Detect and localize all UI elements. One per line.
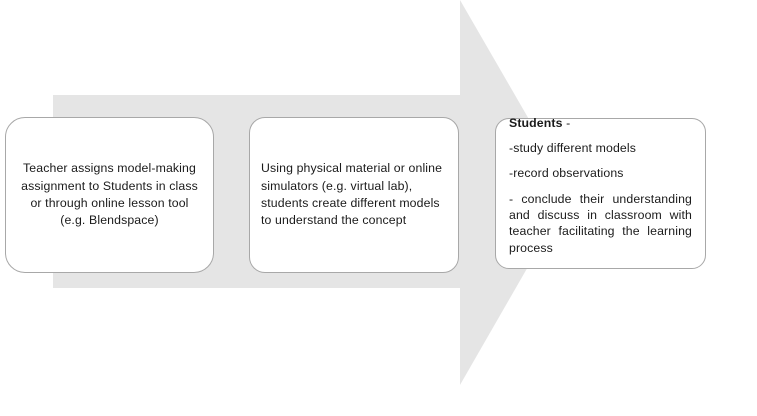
process-step-3-heading-suffix: - (563, 116, 571, 130)
process-step-box-1[interactable]: Teacher assigns model-making assignment … (5, 117, 214, 273)
process-step-2-line-3: students create different models (261, 195, 447, 212)
process-step-3-bullet-1: -study different models (509, 140, 692, 156)
diagram-canvas: Teacher assigns model-making assignment … (0, 0, 757, 416)
process-step-3-text: Students - -study different models -reco… (509, 115, 692, 273)
process-step-3-bullet-2: -record observations (509, 165, 692, 181)
process-step-1-line-1: Teacher assigns model-making (15, 160, 204, 177)
process-step-2-line-1: Using physical material or online (261, 160, 447, 177)
process-step-box-3[interactable]: Students - -study different models -reco… (495, 118, 706, 269)
process-step-2-line-4: to understand the concept (261, 212, 447, 229)
process-step-1-text: Teacher assigns model-making assignment … (15, 160, 204, 230)
process-step-3-heading-label: Students (509, 116, 563, 130)
process-step-3-heading: Students - (509, 115, 692, 131)
process-step-2-text: Using physical material or online simula… (261, 160, 447, 230)
process-step-1-line-4: (e.g. Blendspace) (15, 212, 204, 229)
process-step-3-bullet-3: - conclude their understanding and discu… (509, 191, 692, 273)
process-step-2-line-2: simulators (e.g. virtual lab), (261, 178, 447, 195)
process-step-1-line-3: or through online lesson tool (15, 195, 204, 212)
process-step-1-line-2: assignment to Students in class (15, 178, 204, 195)
process-step-box-2[interactable]: Using physical material or online simula… (249, 117, 459, 273)
